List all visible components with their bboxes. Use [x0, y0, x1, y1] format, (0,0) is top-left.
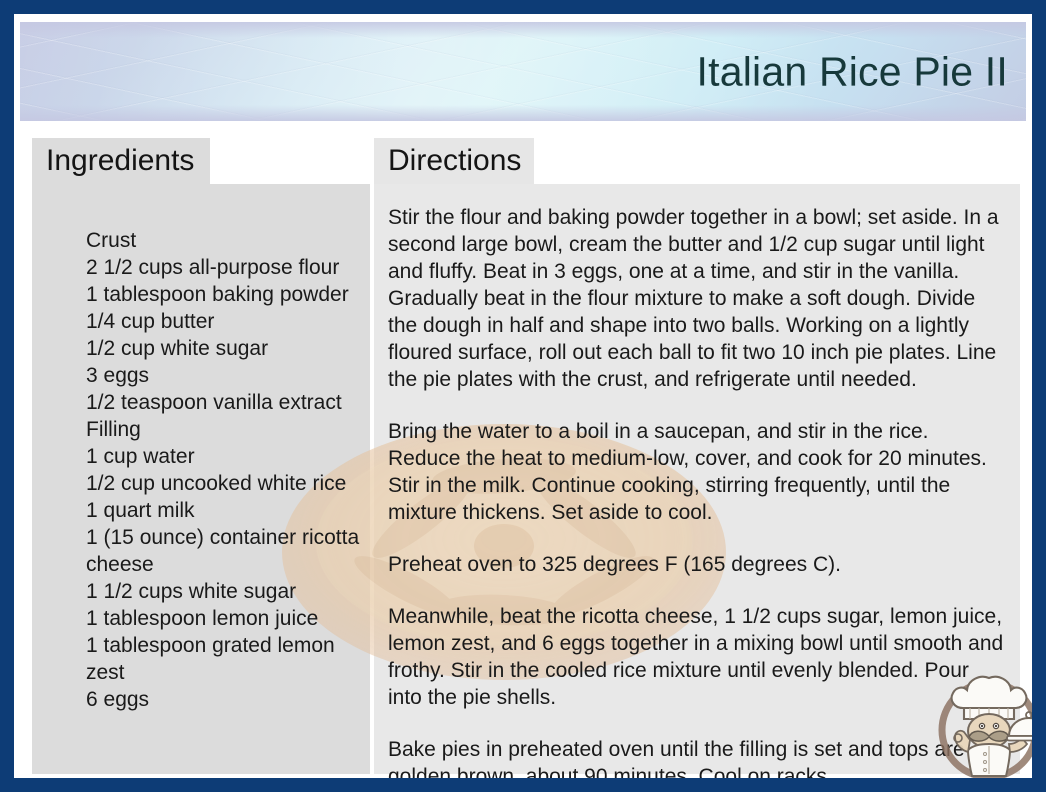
directions-text-layer: Stir the flour and baking powder togethe…	[374, 184, 1020, 774]
direction-paragraph: Bake pies in preheated oven until the fi…	[388, 736, 1004, 778]
ingredient-item: 1 tablespoon grated lemon zest	[86, 632, 360, 686]
ingredient-item: Filling	[86, 416, 360, 443]
ingredient-item: 1 cup water	[86, 443, 360, 470]
ingredient-item: 1 quart milk	[86, 497, 360, 524]
direction-paragraph: Preheat oven to 325 degrees F (165 degre…	[388, 551, 1004, 578]
banner-bottom-fade	[20, 105, 1026, 121]
ingredient-item: 3 eggs	[86, 362, 360, 389]
direction-paragraph: Bring the water to a boil in a saucepan,…	[388, 418, 1004, 526]
tab-directions[interactable]: Directions	[374, 138, 534, 184]
tab-ingredients[interactable]: Ingredients	[32, 138, 210, 184]
ingredient-item: 1/2 teaspoon vanilla extract	[86, 389, 360, 416]
ingredient-item: 1 1/2 cups white sugar	[86, 578, 360, 605]
ingredient-item: 1 (15 ounce) container ricotta cheese	[86, 524, 360, 578]
ingredient-item: Crust	[86, 227, 360, 254]
recipe-card: Italian Rice Pie II Ingredients Directio…	[14, 14, 1032, 778]
ingredient-item: 1 tablespoon lemon juice	[86, 605, 360, 632]
ingredient-item: 1/4 cup butter	[86, 308, 360, 335]
ingredient-item: 1/2 cup uncooked white rice	[86, 470, 360, 497]
ingredients-list: Crust2 1/2 cups all-purpose flour1 table…	[46, 227, 360, 713]
ingredients-text-layer: Crust2 1/2 cups all-purpose flour1 table…	[32, 184, 370, 774]
ingredients-heading: Ingredients	[46, 144, 194, 178]
banner-top-fade	[20, 22, 1026, 38]
recipe-banner: Italian Rice Pie II	[20, 22, 1026, 121]
page-title: Italian Rice Pie II	[697, 48, 1008, 95]
directions-heading: Directions	[388, 144, 521, 178]
direction-paragraph: Stir the flour and baking powder togethe…	[388, 204, 1004, 393]
ingredient-item: 2 1/2 cups all-purpose flour	[86, 254, 360, 281]
ingredient-item: 1/2 cup white sugar	[86, 335, 360, 362]
direction-paragraph: Meanwhile, beat the ricotta cheese, 1 1/…	[388, 603, 1004, 711]
ingredient-item: 1 tablespoon baking powder	[86, 281, 360, 308]
ingredient-item: 6 eggs	[86, 686, 360, 713]
directions-body: Stir the flour and baking powder togethe…	[388, 204, 1004, 778]
